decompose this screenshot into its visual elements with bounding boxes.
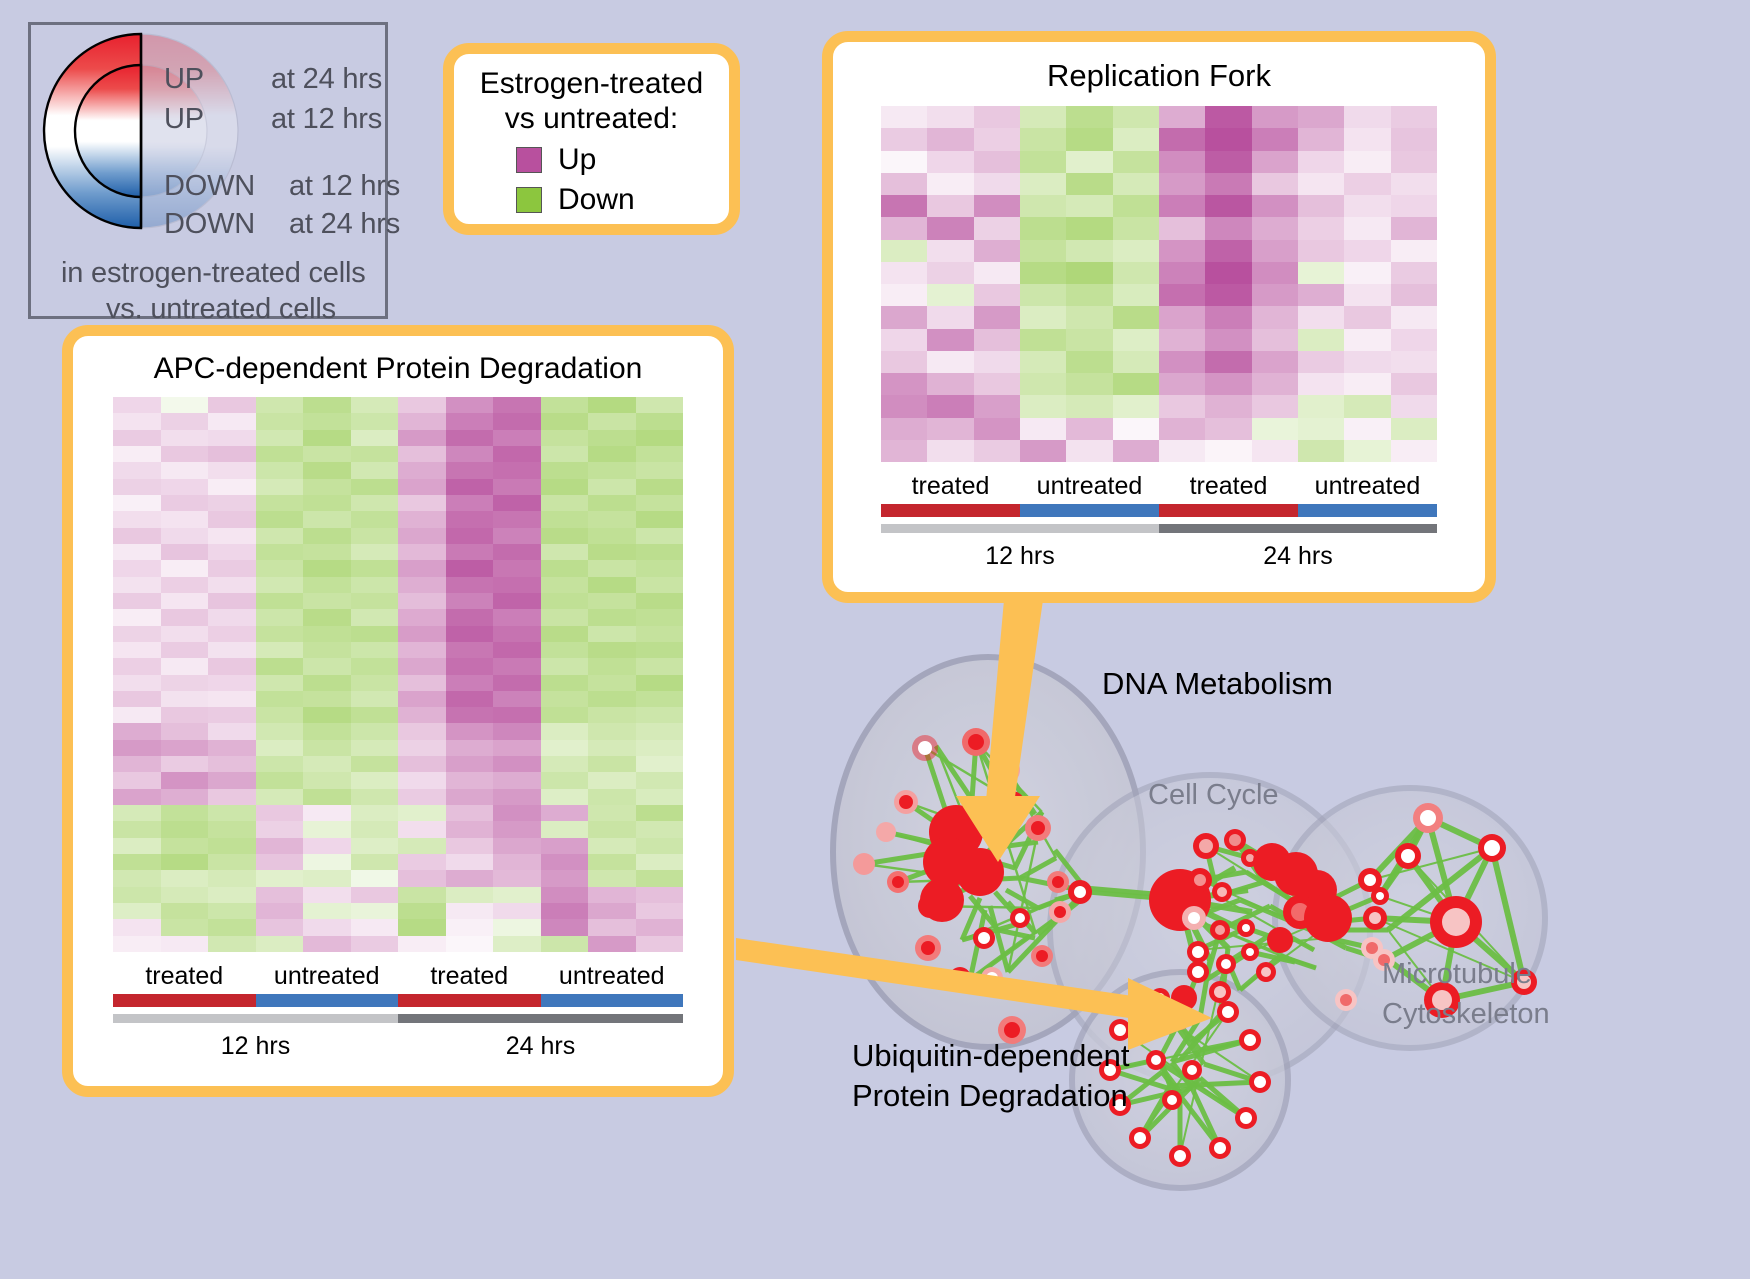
heatmap-cell xyxy=(256,772,304,788)
heatmap-cell xyxy=(541,903,589,919)
heatmap-cell xyxy=(541,446,589,462)
heatmap-cell xyxy=(541,723,589,739)
heatmap-cell xyxy=(493,413,541,429)
heatmap-cell xyxy=(351,609,399,625)
heatmap-cell xyxy=(1020,240,1066,262)
network-node xyxy=(915,935,941,961)
replication-fork-panel: Replication Fork treated untreated treat… xyxy=(822,31,1496,603)
heatmap-cell xyxy=(351,919,399,935)
heatmap-cell xyxy=(303,642,351,658)
heatmap-cell xyxy=(446,609,494,625)
heatmap-cell xyxy=(881,173,927,195)
heatmap-cell xyxy=(541,658,589,674)
heatmap-cell xyxy=(446,560,494,576)
heatmap-cell xyxy=(1205,173,1251,195)
heatmap-cell xyxy=(1298,284,1344,306)
heatmap-cell xyxy=(927,195,973,217)
heatmap-cell xyxy=(1344,395,1390,417)
up-color-swatch xyxy=(516,147,542,173)
heatmap-cell xyxy=(541,887,589,903)
heatmap-cell xyxy=(208,903,256,919)
heatmap-cell xyxy=(493,789,541,805)
heatmap-cell xyxy=(208,658,256,674)
heatmap-cell xyxy=(493,854,541,870)
heatmap-cell xyxy=(446,789,494,805)
heatmap-cell xyxy=(256,887,304,903)
legend-row-3-time: at 24 hrs xyxy=(289,208,400,241)
heatmap-cell xyxy=(446,593,494,609)
legend-row-3-direction: DOWN xyxy=(164,208,255,241)
network-node xyxy=(1162,1090,1182,1110)
heatmap-cell xyxy=(208,577,256,593)
cluster-label-ubiquitin-line2: Protein Degradation xyxy=(852,1078,1128,1114)
heatmap-cell xyxy=(351,544,399,560)
axis-group-label: untreated xyxy=(541,962,684,991)
heatmap-cell xyxy=(1391,151,1437,173)
heatmap-cell xyxy=(303,577,351,593)
network-node xyxy=(1182,906,1206,930)
network-node xyxy=(1209,1137,1231,1159)
heatmap-cell xyxy=(256,397,304,413)
heatmap-cell xyxy=(398,772,446,788)
heatmap-cell xyxy=(493,642,541,658)
heatmap-cell xyxy=(208,511,256,527)
heatmap-cell xyxy=(256,740,304,756)
heatmap-cell xyxy=(927,106,973,128)
heatmap-cell xyxy=(974,151,1020,173)
heatmap-cell xyxy=(493,675,541,691)
heatmap-cell xyxy=(1159,284,1205,306)
heatmap-cell xyxy=(1252,262,1298,284)
heatmap-cell xyxy=(1113,373,1159,395)
heatmap-cell xyxy=(636,675,684,691)
network-node xyxy=(1171,985,1197,1011)
heatmap-cell xyxy=(541,789,589,805)
heatmap-cell xyxy=(588,838,636,854)
heatmap-cell xyxy=(493,397,541,413)
network-node xyxy=(1047,871,1069,893)
heatmap-cell xyxy=(493,479,541,495)
network-node xyxy=(853,853,875,875)
heatmap-cell xyxy=(446,870,494,886)
heatmap-cell xyxy=(1391,284,1437,306)
heatmap-cell xyxy=(303,919,351,935)
heatmap-cell xyxy=(208,413,256,429)
heatmap-cell xyxy=(974,306,1020,328)
heatmap-cell xyxy=(161,593,209,609)
heatmap-cell xyxy=(927,373,973,395)
heatmap-cell xyxy=(1205,240,1251,262)
heatmap-cell xyxy=(446,577,494,593)
heatmap-cell xyxy=(351,560,399,576)
heatmap-cell xyxy=(541,870,589,886)
heatmap-cell xyxy=(493,723,541,739)
heatmap-cell xyxy=(113,903,161,919)
heatmap-cell xyxy=(446,707,494,723)
heatmap-cell xyxy=(113,870,161,886)
heatmap-cell xyxy=(636,446,684,462)
heatmap-cell xyxy=(1066,151,1112,173)
heatmap-cell xyxy=(398,397,446,413)
heatmap-cell xyxy=(1391,195,1437,217)
heatmap-cell xyxy=(588,560,636,576)
legend-footnote-line1: in estrogen-treated cells xyxy=(61,257,366,290)
heatmap-cell xyxy=(256,936,304,952)
heatmap-cell xyxy=(1252,395,1298,417)
heatmap-cell xyxy=(208,805,256,821)
heatmap-cell xyxy=(161,723,209,739)
heatmap-cell xyxy=(541,560,589,576)
heatmap-cell xyxy=(398,805,446,821)
heatmap-cell xyxy=(1113,106,1159,128)
heatmap-cell xyxy=(256,821,304,837)
heatmap-cell xyxy=(1205,306,1251,328)
heatmap-cell xyxy=(881,373,927,395)
heatmap-cell xyxy=(161,397,209,413)
legend-row-2-time: at 12 hrs xyxy=(289,170,400,203)
heatmap-cell xyxy=(351,772,399,788)
heatmap-cell xyxy=(1020,106,1066,128)
estrogen-legend-title-line1: Estrogen-treated xyxy=(454,66,729,101)
heatmap-cell xyxy=(588,805,636,821)
heatmap-cell xyxy=(1020,217,1066,239)
heatmap-cell xyxy=(113,577,161,593)
heatmap-cell xyxy=(588,446,636,462)
heatmap-cell xyxy=(541,675,589,691)
heatmap-cell xyxy=(398,577,446,593)
network-node xyxy=(999,791,1025,817)
heatmap-cell xyxy=(208,462,256,478)
apc-time-bar xyxy=(113,1014,683,1023)
heatmap-cell xyxy=(636,805,684,821)
heatmap-cell xyxy=(927,151,973,173)
heatmap-cell xyxy=(493,528,541,544)
heatmap-cell xyxy=(636,691,684,707)
heatmap-cell xyxy=(208,430,256,446)
heatmap-cell xyxy=(636,528,684,544)
heatmap-cell xyxy=(398,560,446,576)
heatmap-cell xyxy=(1205,128,1251,150)
heatmap-cell xyxy=(161,528,209,544)
heatmap-cell xyxy=(351,397,399,413)
heatmap-cell xyxy=(1252,306,1298,328)
heatmap-cell xyxy=(1159,262,1205,284)
heatmap-cell xyxy=(303,723,351,739)
heatmap-cell xyxy=(974,262,1020,284)
heatmap-cell xyxy=(446,838,494,854)
heatmap-cell xyxy=(1113,395,1159,417)
heatmap-cell xyxy=(256,919,304,935)
axis-group-label: treated xyxy=(398,962,541,991)
heatmap-cell xyxy=(1113,217,1159,239)
untreated-bar-segment xyxy=(1298,504,1437,517)
heatmap-cell xyxy=(493,870,541,886)
heatmap-cell xyxy=(541,838,589,854)
heatmap-cell xyxy=(1066,195,1112,217)
heatmap-cell xyxy=(303,593,351,609)
heatmap-cell xyxy=(303,854,351,870)
heatmap-cell xyxy=(1252,128,1298,150)
cluster-label-microtubule-line2: Cytoskeleton xyxy=(1382,998,1550,1031)
heatmap-cell xyxy=(446,675,494,691)
heatmap-cell xyxy=(398,609,446,625)
heatmap-cell xyxy=(1159,329,1205,351)
network-node xyxy=(1249,1071,1271,1093)
heatmap-cell xyxy=(1113,195,1159,217)
heatmap-cell xyxy=(398,723,446,739)
heatmap-cell xyxy=(303,691,351,707)
heatmap-cell xyxy=(446,511,494,527)
heatmap-cell xyxy=(113,838,161,854)
heatmap-cell xyxy=(1298,306,1344,328)
heatmap-cell xyxy=(541,577,589,593)
heatmap-cell xyxy=(541,462,589,478)
heatmap-cell xyxy=(588,919,636,935)
heatmap-cell xyxy=(541,413,589,429)
untreated-bar-segment xyxy=(1020,504,1159,517)
heatmap-cell xyxy=(398,740,446,756)
heatmap-cell xyxy=(1113,284,1159,306)
heatmap-cell xyxy=(113,789,161,805)
heatmap-cell xyxy=(1298,418,1344,440)
heatmap-cell xyxy=(208,609,256,625)
time-bar-24hrs xyxy=(398,1014,683,1023)
heatmap-cell xyxy=(256,626,304,642)
heatmap-cell xyxy=(351,789,399,805)
heatmap-cell xyxy=(398,642,446,658)
heatmap-cell xyxy=(161,772,209,788)
heatmap-cell xyxy=(161,821,209,837)
heatmap-cell xyxy=(113,462,161,478)
heatmap-cell xyxy=(446,479,494,495)
network-node xyxy=(876,822,896,842)
down-color-swatch xyxy=(516,187,542,213)
heatmap-cell xyxy=(113,560,161,576)
heatmap-cell xyxy=(398,593,446,609)
heatmap-cell xyxy=(303,870,351,886)
heatmap-cell xyxy=(398,495,446,511)
heatmap-cell xyxy=(1113,151,1159,173)
heatmap-cell xyxy=(588,821,636,837)
heatmap-cell xyxy=(1159,395,1205,417)
heatmap-cell xyxy=(974,351,1020,373)
heatmap-cell xyxy=(881,128,927,150)
heatmap-cell xyxy=(1391,440,1437,462)
heatmap-cell xyxy=(446,903,494,919)
heatmap-cell xyxy=(1159,440,1205,462)
heatmap-cell xyxy=(1066,329,1112,351)
heatmap-cell xyxy=(927,395,973,417)
heatmap-cell xyxy=(1159,106,1205,128)
heatmap-cell xyxy=(1391,106,1437,128)
heatmap-cell xyxy=(256,675,304,691)
heatmap-cell xyxy=(1159,195,1205,217)
network-node xyxy=(1146,1050,1166,1070)
heatmap-cell xyxy=(113,511,161,527)
heatmap-cell xyxy=(208,446,256,462)
network-node xyxy=(981,967,1003,989)
heatmap-cell xyxy=(398,870,446,886)
heatmap-cell xyxy=(161,789,209,805)
heatmap-cell xyxy=(636,821,684,837)
heatmap-cell xyxy=(1020,306,1066,328)
network-node xyxy=(1256,962,1276,982)
treated-bar-segment xyxy=(113,994,256,1007)
heatmap-cell xyxy=(161,642,209,658)
untreated-bar-segment xyxy=(541,994,684,1007)
heatmap-cell xyxy=(1252,351,1298,373)
heatmap-cell xyxy=(1344,306,1390,328)
heatmap-cell xyxy=(493,707,541,723)
heatmap-cell xyxy=(588,740,636,756)
heatmap-cell xyxy=(113,740,161,756)
heatmap-cell xyxy=(636,577,684,593)
replication-time-labels: 12 hrs 24 hrs xyxy=(881,542,1437,571)
heatmap-cell xyxy=(208,675,256,691)
heatmap-cell xyxy=(541,609,589,625)
heatmap-cell xyxy=(636,707,684,723)
heatmap-cell xyxy=(493,430,541,446)
heatmap-cell xyxy=(1205,106,1251,128)
heatmap-cell xyxy=(446,805,494,821)
heatmap-cell xyxy=(541,495,589,511)
network-node xyxy=(1224,829,1246,851)
heatmap-cell xyxy=(1252,373,1298,395)
heatmap-cell xyxy=(974,173,1020,195)
network-node xyxy=(1182,1060,1202,1080)
network-node xyxy=(1335,989,1357,1011)
heatmap-cell xyxy=(1391,329,1437,351)
heatmap-cell xyxy=(541,544,589,560)
network-node xyxy=(894,790,918,814)
heatmap-cell xyxy=(351,691,399,707)
heatmap-cell xyxy=(881,329,927,351)
heatmap-cell xyxy=(113,626,161,642)
heatmap-cell xyxy=(541,740,589,756)
heatmap-cell xyxy=(398,903,446,919)
network-node xyxy=(1129,1127,1151,1149)
heatmap-cell xyxy=(161,936,209,952)
heatmap-cell xyxy=(303,658,351,674)
heatmap-cell xyxy=(303,462,351,478)
up-label: Up xyxy=(558,143,596,177)
heatmap-cell xyxy=(493,462,541,478)
heatmap-cell xyxy=(493,511,541,527)
heatmap-cell xyxy=(398,544,446,560)
heatmap-cell xyxy=(351,707,399,723)
heatmap-cell xyxy=(1252,240,1298,262)
heatmap-cell xyxy=(398,919,446,935)
heatmap-cell xyxy=(113,413,161,429)
heatmap-cell xyxy=(208,772,256,788)
heatmap-cell xyxy=(398,658,446,674)
heatmap-cell xyxy=(1344,195,1390,217)
time-group-label: 12 hrs xyxy=(113,1032,398,1061)
network-node xyxy=(1216,954,1236,974)
heatmap-cell xyxy=(1159,128,1205,150)
heatmap-cell xyxy=(588,854,636,870)
network-node xyxy=(956,848,1004,896)
heatmap-cell xyxy=(303,789,351,805)
heatmap-cell xyxy=(1344,440,1390,462)
network-node xyxy=(1395,843,1421,869)
heatmap-cell xyxy=(881,395,927,417)
treated-bar-segment xyxy=(881,504,1020,517)
heatmap-cell xyxy=(256,560,304,576)
heatmap-cell xyxy=(1298,128,1344,150)
heatmap-cell xyxy=(881,262,927,284)
heatmap-cell xyxy=(351,805,399,821)
heatmap-cell xyxy=(1205,373,1251,395)
heatmap-cell xyxy=(208,887,256,903)
heatmap-cell xyxy=(974,418,1020,440)
legend-row-0-direction: UP xyxy=(164,63,204,96)
heatmap-cell xyxy=(113,887,161,903)
heatmap-cell xyxy=(1113,329,1159,351)
network-node xyxy=(920,878,964,922)
heatmap-cell xyxy=(493,805,541,821)
heatmap-cell xyxy=(398,789,446,805)
heatmap-cell xyxy=(303,887,351,903)
heatmap-cell xyxy=(1159,151,1205,173)
heatmap-cell xyxy=(446,723,494,739)
heatmap-cell xyxy=(1020,284,1066,306)
heatmap-cell xyxy=(1066,351,1112,373)
replication-fork-title: Replication Fork xyxy=(833,58,1485,94)
heatmap-cell xyxy=(588,772,636,788)
heatmap-cell xyxy=(636,919,684,935)
heatmap-cell xyxy=(113,675,161,691)
heatmap-cell xyxy=(303,675,351,691)
heatmap-cell xyxy=(541,626,589,642)
heatmap-cell xyxy=(1113,240,1159,262)
apc-axis: treated untreated treated untreated 12 h… xyxy=(113,962,683,1061)
heatmap-cell xyxy=(113,430,161,446)
heatmap-cell xyxy=(588,626,636,642)
heatmap-cell xyxy=(636,870,684,886)
heatmap-cell xyxy=(588,495,636,511)
axis-group-label: treated xyxy=(113,962,256,991)
network-node xyxy=(1237,919,1255,937)
heatmap-cell xyxy=(927,262,973,284)
heatmap-cell xyxy=(446,446,494,462)
replication-fork-heatmap xyxy=(881,106,1437,462)
network-node xyxy=(1025,815,1051,841)
network-node xyxy=(912,735,938,761)
network-node xyxy=(1212,882,1232,902)
heatmap-cell xyxy=(208,528,256,544)
heatmap-cell xyxy=(351,577,399,593)
heatmap-cell xyxy=(398,626,446,642)
heatmap-cell xyxy=(1020,351,1066,373)
heatmap-cell xyxy=(1344,151,1390,173)
color-scale-legend: UP at 24 hrs UP at 12 hrs DOWN at 12 hrs… xyxy=(28,22,388,319)
heatmap-cell xyxy=(303,413,351,429)
heatmap-cell xyxy=(636,626,684,642)
network-node xyxy=(1031,945,1053,967)
untreated-bar-segment xyxy=(256,994,399,1007)
heatmap-cell xyxy=(588,675,636,691)
legend-footnote-line2: vs. untreated cells xyxy=(106,293,336,326)
heatmap-cell xyxy=(974,240,1020,262)
time-group-label: 24 hrs xyxy=(1159,542,1437,571)
heatmap-cell xyxy=(113,772,161,788)
heatmap-cell xyxy=(1159,217,1205,239)
heatmap-cell xyxy=(1159,240,1205,262)
heatmap-cell xyxy=(161,740,209,756)
heatmap-cell xyxy=(636,740,684,756)
heatmap-cell xyxy=(351,413,399,429)
